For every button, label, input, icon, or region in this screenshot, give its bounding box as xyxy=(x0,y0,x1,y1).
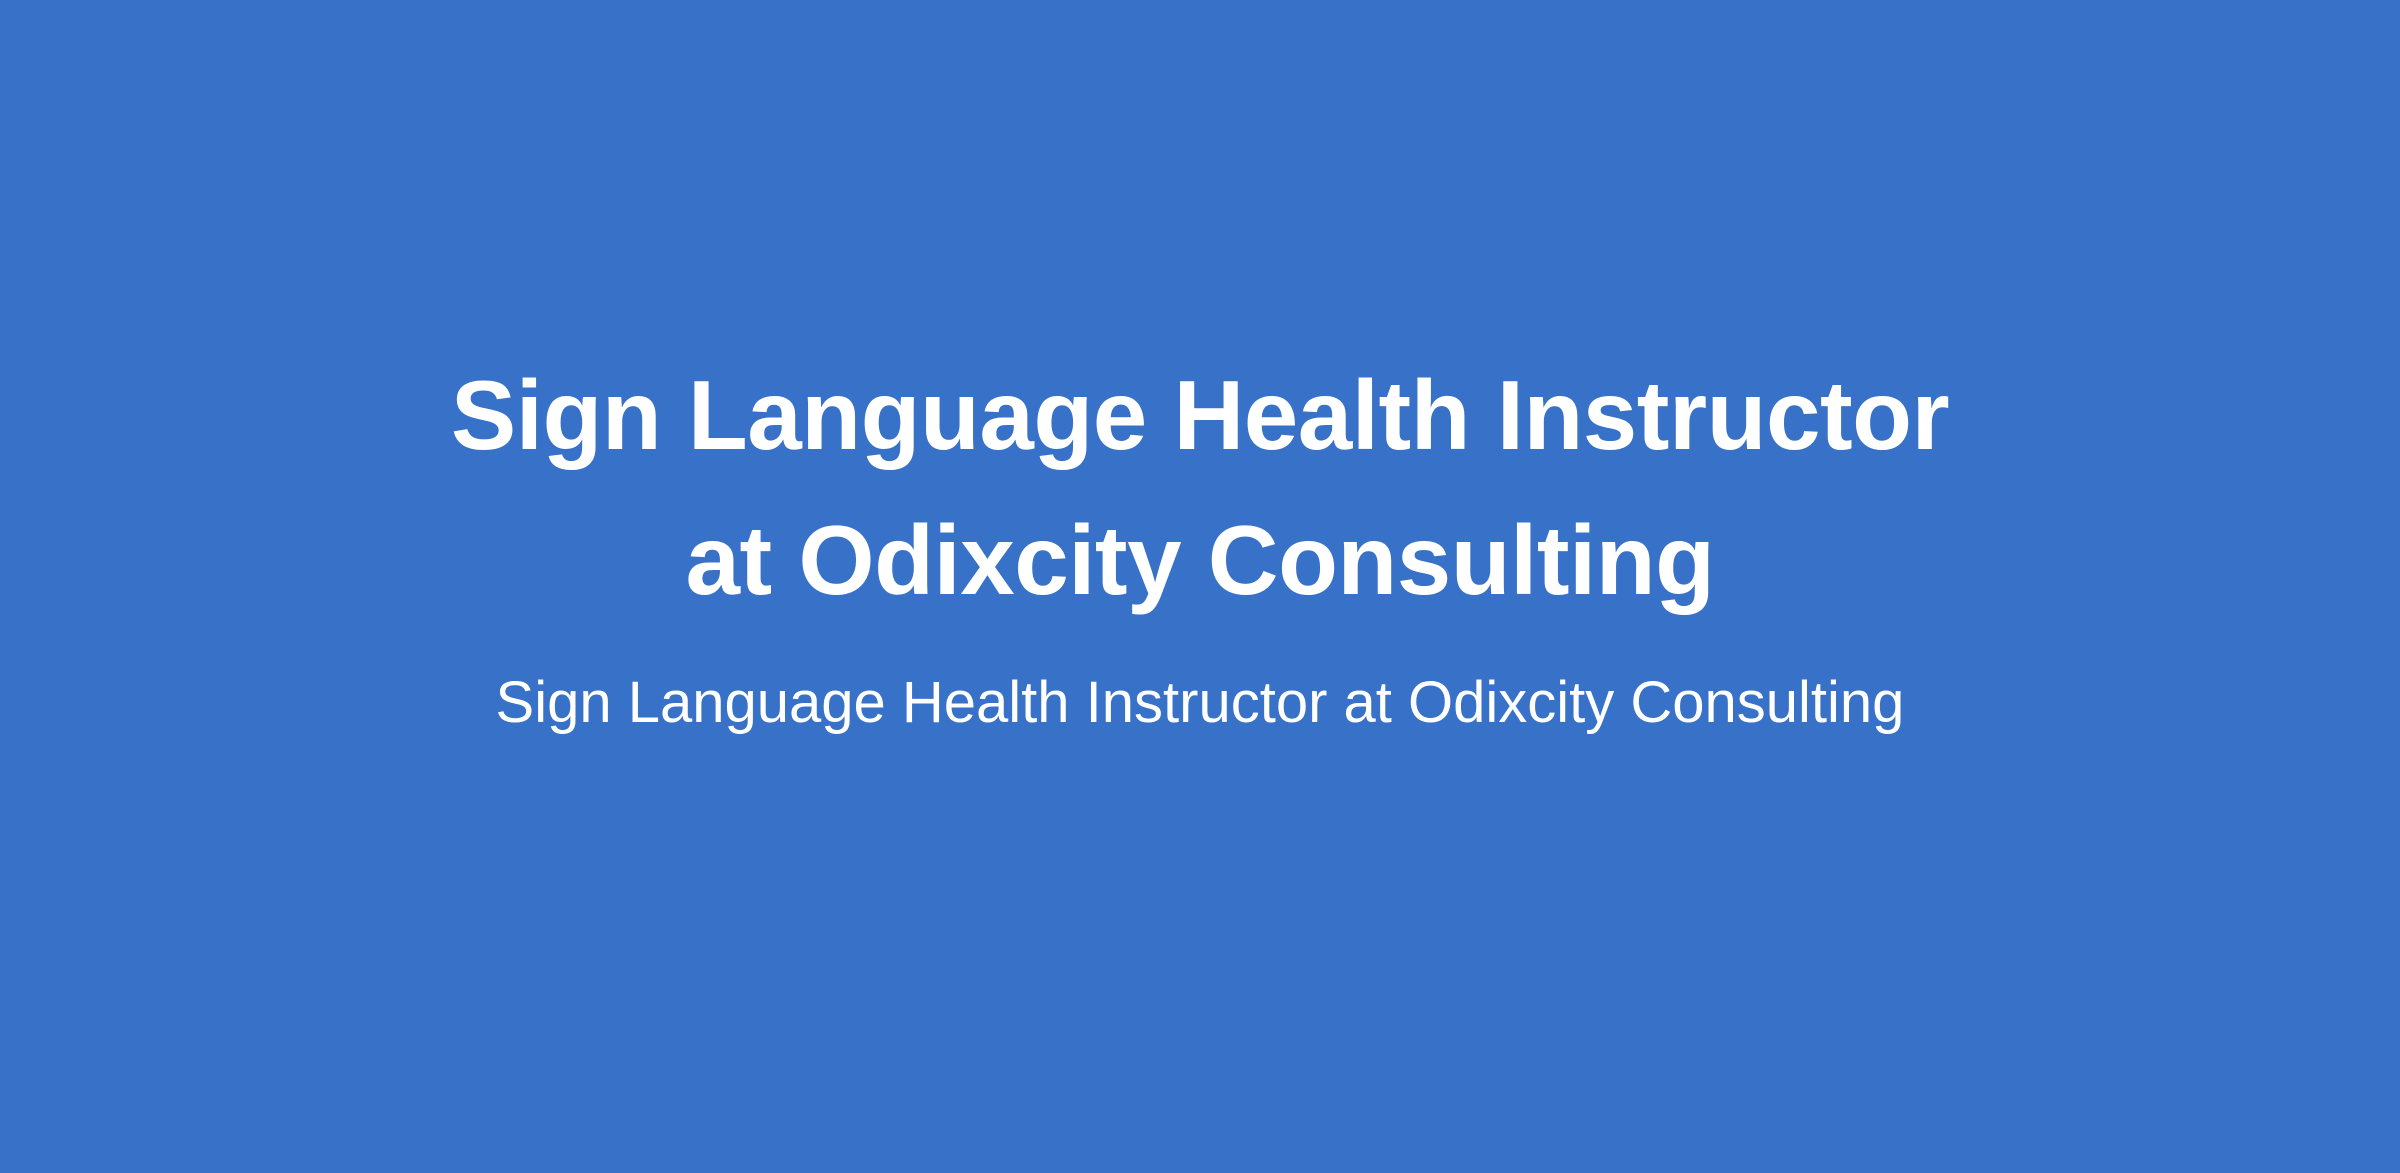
page-subtitle: Sign Language Health Instructor at Odixc… xyxy=(496,651,1905,754)
share-card: Sign Language Health Instructor at Odixc… xyxy=(0,0,2400,1173)
page-title: Sign Language Health Instructor at Odixc… xyxy=(350,343,2050,633)
card-content: Sign Language Health Instructor at Odixc… xyxy=(160,343,2240,754)
